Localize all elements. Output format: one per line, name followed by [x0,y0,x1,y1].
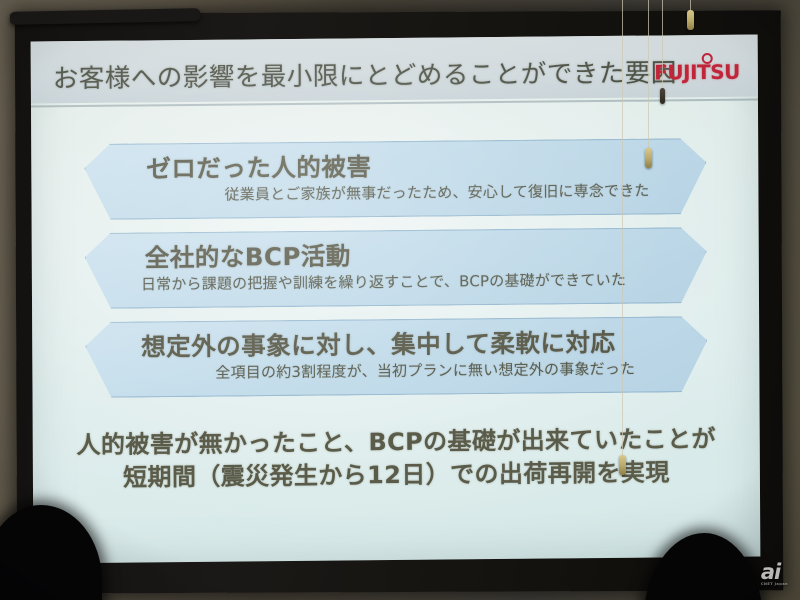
fujitsu-logo: FUJITSU [654,60,740,85]
chevron-box-3-heading: 想定外の事象に対し、集中して柔軟に対応 [141,324,615,364]
slide-surface: お客様への影響を最小限にとどめることができた要因 FUJITSU ゼロだった人的… [31,35,761,564]
fujitsu-logo-mark [702,53,713,64]
pull-cord-3 [662,0,663,92]
conclusion-line-1: 人的被害が無かったこと、BCPの基礎が出来ていたことが [77,425,716,459]
pull-cord-weight-2 [645,148,652,168]
fujitsu-logo-text: FUJITSU [654,60,740,85]
slide-conclusion: 人的被害が無かったこと、BCPの基礎が出来ていたことが 短期間（震災発生から12… [33,423,760,495]
chevron-box-3: 想定外の事象に対し、集中して柔軟に対応 全項目の約3割程度が、当初プランに無い想… [85,316,707,398]
chevron-box-1-heading: ゼロだった人的被害 [146,148,371,185]
pull-cord-2 [648,0,649,160]
chevron-box-3-subtext: 全項目の約3割程度が、当初プランに無い想定外の事象だった [215,358,635,383]
chevron-box-2-subtext: 日常から課題の把握や訓練を繰り返すことで、BCPの基礎ができていた [141,269,626,295]
pull-cord-weight-3 [660,88,665,104]
slide-title: お客様への影響を最小限にとどめることができた要因 [53,52,677,95]
watermark-subtext: CNET Japan [761,582,788,586]
site-watermark: ai CNET Japan [761,560,788,586]
pull-cord-weight-1 [619,455,626,475]
chevron-box-2: 全社的なBCP活動 日常から課題の把握や訓練を繰り返すことで、BCPの基礎ができ… [85,227,707,309]
chevron-box-2-heading: 全社的なBCP活動 [145,237,351,274]
chevron-box-1: ゼロだった人的被害 従業員とご家族が無事だったため、安心して復旧に専念できた [84,138,706,220]
chevron-box-1-subtext: 従業員とご家族が無事だったため、安心して復旧に専念できた [224,180,649,205]
watermark-text: ai [761,560,780,584]
presentation-photo: お客様への影響を最小限にとどめることができた要因 FUJITSU ゼロだった人的… [0,0,800,600]
pull-cord-weight-4 [687,10,694,30]
conclusion-line-2: 短期間（震災発生から12日）での出荷再開を実現 [33,455,760,495]
pull-cord-1 [622,0,623,470]
